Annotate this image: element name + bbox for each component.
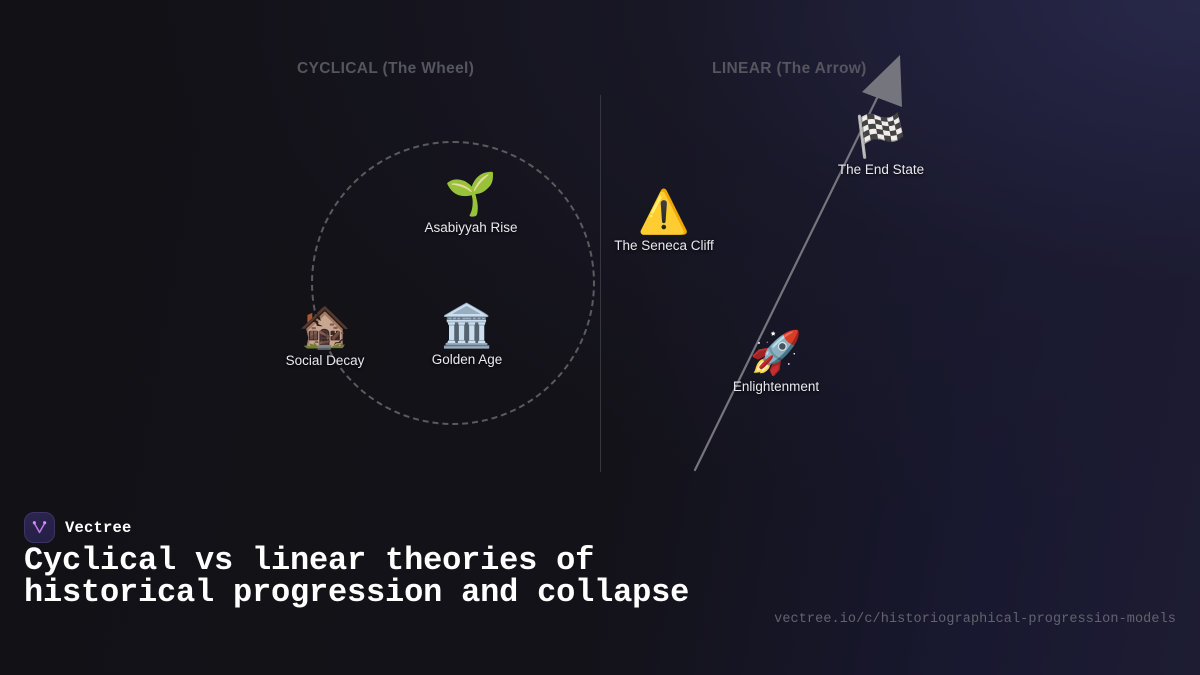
node-label: Golden Age	[432, 352, 503, 367]
node-golden-age[interactable]: 🏛️ Golden Age	[432, 303, 503, 367]
node-enlightenment[interactable]: 🚀 Enlightenment	[733, 330, 819, 394]
seedling-icon: 🌱	[424, 171, 517, 217]
card-footer: Vectree Cyclical vs linear theories of h…	[0, 490, 1200, 675]
node-label: The End State	[838, 162, 924, 177]
node-social-decay[interactable]: 🏚️ Social Decay	[286, 304, 365, 368]
page-title: Cyclical vs linear theories of historica…	[24, 545, 724, 609]
panel-title-cyclical: CYCLICAL (The Wheel)	[297, 60, 474, 78]
node-label: Asabiyyah Rise	[424, 220, 517, 235]
arrow-head	[862, 55, 902, 107]
source-url: vectree.io/c/historiographical-progressi…	[774, 612, 1176, 627]
vectree-v-logo-icon	[30, 518, 49, 537]
node-label: Enlightenment	[733, 379, 819, 394]
panel-title-linear: LINEAR (The Arrow)	[712, 60, 867, 78]
brand-name: Vectree	[65, 519, 132, 537]
brand-lockup[interactable]: Vectree	[24, 512, 132, 543]
derelict-house-icon: 🏚️	[286, 304, 365, 350]
panel-divider	[600, 95, 601, 472]
chequered-flag-icon: 🏁	[838, 113, 924, 159]
node-label: Social Decay	[286, 353, 365, 368]
diagram-stage: CYCLICAL (The Wheel) LINEAR (The Arrow) …	[0, 0, 1200, 490]
rocket-icon: 🚀	[733, 330, 819, 376]
node-the-end-state[interactable]: 🏁 The End State	[838, 113, 924, 177]
vectree-logo-badge	[24, 512, 55, 543]
share-card: CYCLICAL (The Wheel) LINEAR (The Arrow) …	[0, 0, 1200, 675]
warning-triangle-icon: ⚠️	[614, 189, 714, 235]
classical-building-icon: 🏛️	[432, 303, 503, 349]
node-label: The Seneca Cliff	[614, 238, 714, 253]
node-seneca-cliff[interactable]: ⚠️ The Seneca Cliff	[614, 189, 714, 253]
node-asabiyyah-rise[interactable]: 🌱 Asabiyyah Rise	[424, 171, 517, 235]
